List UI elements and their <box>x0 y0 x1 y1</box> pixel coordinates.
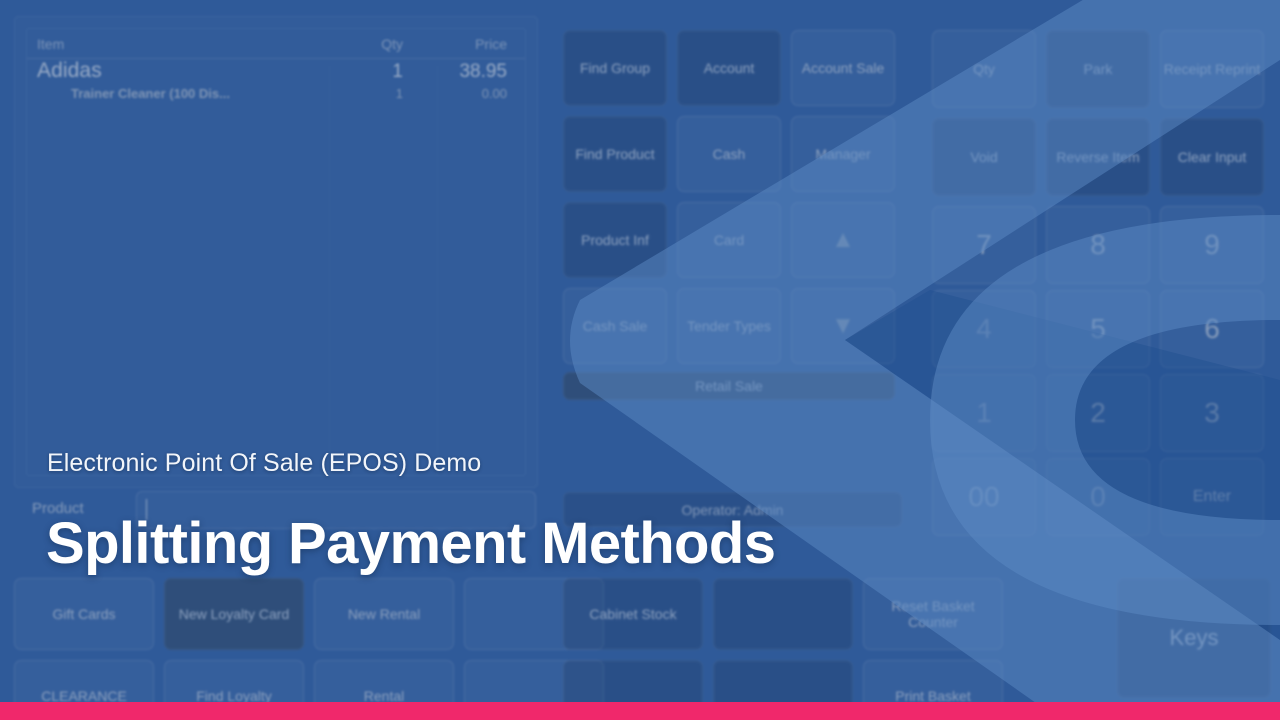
video-thumbnail: Item Qty Price Adidas 1 38.95 Trainer Cl… <box>0 0 1280 720</box>
button-park[interactable]: Park <box>1046 30 1150 108</box>
basket-item-price: 38.95 <box>403 61 525 83</box>
button-gift-cards[interactable]: Gift Cards <box>14 578 154 650</box>
column-header-item: Item <box>27 36 295 52</box>
button-digit-8[interactable]: 8 <box>1046 206 1150 284</box>
basket-row[interactable]: Trainer Cleaner (100 Dis... 1 0.00 <box>27 86 525 110</box>
button-find-product[interactable]: Find Product <box>563 116 667 192</box>
button-find-group[interactable]: Find Group <box>563 30 667 106</box>
button-enter[interactable]: Enter <box>1160 458 1264 536</box>
button-digit-1[interactable]: 1 <box>932 374 1036 452</box>
basket-panel: Item Qty Price Adidas 1 38.95 Trainer Cl… <box>14 16 538 488</box>
button-digit-3[interactable]: 3 <box>1160 374 1264 452</box>
button-cash[interactable]: Cash <box>677 116 781 192</box>
button-digit-00[interactable]: 00 <box>932 458 1036 536</box>
button-receipt-reprint[interactable]: Receipt Reprint <box>1160 30 1264 108</box>
button-account-sale[interactable]: Account Sale <box>791 30 895 106</box>
basket-item-name: Adidas <box>27 59 295 83</box>
button-digit-6[interactable]: 6 <box>1160 290 1264 368</box>
basket-table[interactable]: Item Qty Price Adidas 1 38.95 Trainer Cl… <box>26 28 526 476</box>
video-subtitle: Electronic Point Of Sale (EPOS) Demo <box>47 449 481 478</box>
column-header-price: Price <box>403 36 525 52</box>
basket-row[interactable]: Adidas 1 38.95 <box>27 59 525 86</box>
basket-item-name: Trainer Cleaner (100 Dis... <box>27 86 295 101</box>
button-cabinet-stock[interactable]: Cabinet Stock <box>563 578 703 650</box>
button-keys[interactable]: Keys <box>1117 578 1271 698</box>
button-void[interactable]: Void <box>932 118 1036 196</box>
scroll-up-icon[interactable]: ▲ <box>791 202 895 278</box>
video-title: Splitting Payment Methods <box>46 510 775 577</box>
button-tools-blank[interactable] <box>713 578 853 650</box>
button-digit-4[interactable]: 4 <box>932 290 1036 368</box>
button-account[interactable]: Account <box>677 30 781 106</box>
button-digit-9[interactable]: 9 <box>1160 206 1264 284</box>
button-digit-2[interactable]: 2 <box>1046 374 1150 452</box>
button-cash-sale[interactable]: Cash Sale <box>563 288 667 364</box>
button-retail-sale[interactable]: Retail Sale <box>563 372 895 400</box>
button-manager[interactable]: Manager <box>791 116 895 192</box>
basket-header-row: Item Qty Price <box>27 29 525 59</box>
button-reverse-item[interactable]: Reverse Item <box>1046 118 1150 196</box>
button-qty[interactable]: Qty <box>932 30 1036 108</box>
bottom-accent-bar <box>0 702 1280 720</box>
basket-item-qty: 1 <box>295 61 403 83</box>
button-product-info[interactable]: Product Inf <box>563 202 667 278</box>
button-clear-input[interactable]: Clear Input <box>1160 118 1264 196</box>
button-card[interactable]: Card <box>677 202 781 278</box>
button-digit-5[interactable]: 5 <box>1046 290 1150 368</box>
pos-application-background: Item Qty Price Adidas 1 38.95 Trainer Cl… <box>0 0 1280 720</box>
button-new-loyalty-card[interactable]: New Loyalty Card <box>164 578 304 650</box>
button-tender-types[interactable]: Tender Types <box>677 288 781 364</box>
basket-column-divider <box>437 65 438 475</box>
basket-item-qty: 1 <box>295 86 403 101</box>
scroll-down-icon[interactable]: ▼ <box>791 288 895 364</box>
basket-column-divider <box>329 65 330 475</box>
button-new-rental[interactable]: New Rental <box>314 578 454 650</box>
button-digit-0[interactable]: 0 <box>1046 458 1150 536</box>
button-digit-7[interactable]: 7 <box>932 206 1036 284</box>
basket-item-price: 0.00 <box>403 86 525 101</box>
button-reset-basket-counter[interactable]: Reset Basket Counter <box>863 578 1003 650</box>
column-header-qty: Qty <box>295 36 403 52</box>
